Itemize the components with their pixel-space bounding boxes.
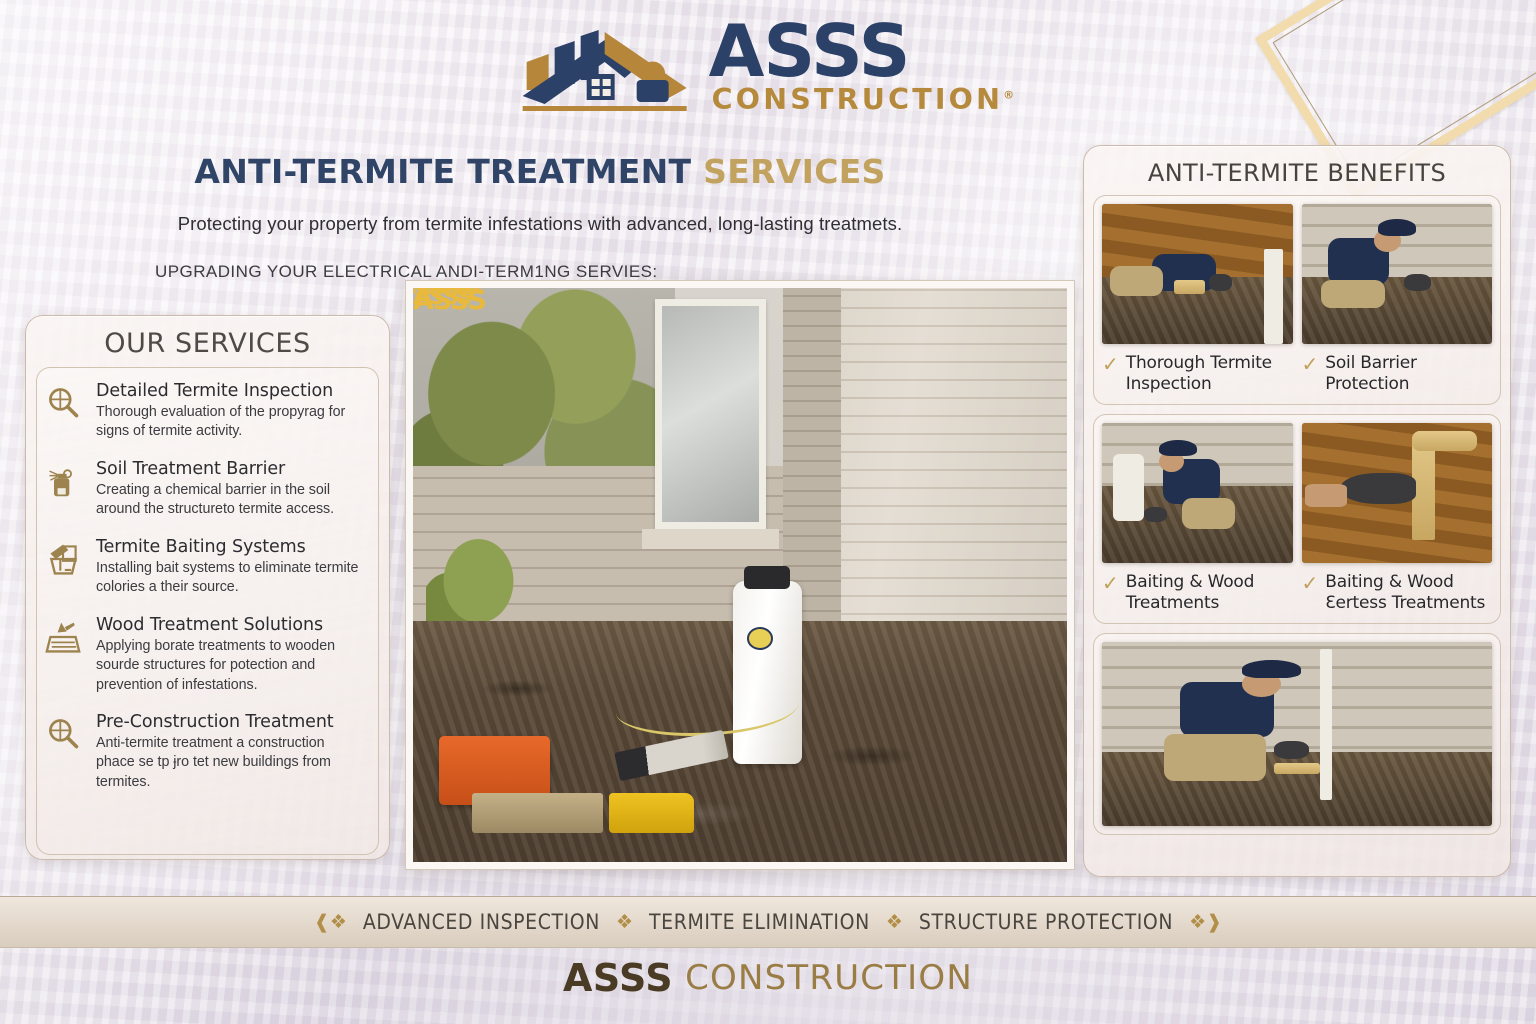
benefit-item[interactable]: ✓ Baiting & Wood Ɛertess Treatments [1302, 423, 1493, 615]
benefit-photo [1102, 204, 1293, 344]
footer-brand-light: CONSTRUCTION [685, 958, 973, 998]
service-description: Anti-termite treatment a construction ph… [96, 734, 366, 792]
service-name: Pre-Construction Treatment [96, 712, 366, 732]
logo-primary-text: ASSS [709, 19, 1018, 84]
service-description: Installing bait systems to eliminate ter… [96, 559, 366, 598]
benefit-photo [1302, 423, 1493, 563]
benefits-panel: ANTI-TERMITE BENEFITS ✓ Thorou [1083, 145, 1511, 877]
ribbon-item: TERMITE ELIMINATION [649, 910, 870, 934]
benefit-item[interactable]: ✓ Baiting & Wood Treatments [1102, 423, 1293, 615]
house-roof-logo-icon [519, 18, 695, 114]
page-subtitle: Protecting your property from termite in… [0, 213, 1080, 235]
benefit-label: Baiting & Wood Treatments [1126, 572, 1293, 615]
services-panel-title: OUR SERVICES [36, 328, 379, 359]
benefit-item[interactable]: ✓ Thorough Termite Inspection [1102, 204, 1293, 396]
benefit-label: Soil Barrier Protection [1325, 353, 1492, 396]
hero-tank-cap [744, 566, 790, 589]
benefits-row-3 [1093, 633, 1501, 835]
service-description: Applying borate treatments to wooden sou… [96, 637, 366, 695]
service-name: Wood Treatment Solutions [96, 615, 366, 635]
hero-photo-frame: ASSS CONSTRUCTROL ASSS CONSTRUCTROL [405, 280, 1075, 870]
footer-brand-bold: ASSS [563, 956, 673, 1000]
service-name: Termite Baiting Systems [96, 537, 366, 557]
service-item[interactable]: Pre-Construction Treatment Anti-termite … [45, 712, 366, 792]
spray-bottle-icon [45, 459, 87, 503]
benefit-item[interactable]: ✓ Soil Barrier Protection [1302, 204, 1493, 396]
benefit-photo[interactable] [1102, 642, 1492, 826]
ribbon-item: ADVANCED INSPECTION [363, 910, 600, 934]
ribbon-right-cap: ❖❱ [1189, 913, 1222, 932]
ribbon-separator-icon: ❖ [886, 913, 903, 932]
service-item[interactable]: Termite Baiting Systems Installing bait … [45, 537, 366, 598]
service-name: Detailed Termite Inspection [96, 381, 366, 401]
benefits-row-2: ✓ Baiting & Wood Treatments ✓ Baiting [1093, 414, 1501, 624]
ribbon-left-cap: ❰❖ [314, 913, 347, 932]
footer-logotype: ASSS CONSTRUCTION [0, 948, 1536, 1008]
page-kicker: UPGRADING YOUR ELECTRICAL ANDI-TERM1NG S… [0, 262, 1080, 282]
service-item[interactable]: Detailed Termite Inspection Thorough eva… [45, 381, 366, 442]
check-icon: ✓ [1102, 354, 1119, 396]
benefit-label: Thorough Termite Inspection [1126, 353, 1293, 396]
services-panel: OUR SERVICES Detailed Termite Inspection… [25, 315, 390, 860]
hero-sprayer-tank [733, 581, 802, 765]
service-item[interactable]: Soil Treatment Barrier Creating a chemic… [45, 459, 366, 520]
hero-photo: ASSS CONSTRUCTROL ASSS CONSTRUCTROL [413, 288, 1067, 862]
page-title-gold: SERVICES [703, 152, 885, 191]
hero-wood-plank [472, 793, 603, 833]
benefit-photo [1302, 204, 1493, 344]
page-title: ANTI-TERMITE TREATMENT SERVICES [0, 152, 1080, 191]
page-title-dark: ANTI-TERMITE TREATMENT [194, 152, 691, 191]
header-block: ANTI-TERMITE TREATMENT SERVICES Protecti… [0, 152, 1080, 282]
hero-power-drill [609, 793, 694, 833]
ribbon-item: STRUCTURE PROTECTION [919, 910, 1173, 934]
service-name: Soil Treatment Barrier [96, 459, 366, 479]
service-description: Thorough evaluation of the propyrag for … [96, 403, 366, 442]
logo-trademark: ® [1003, 89, 1017, 102]
bottom-ribbon: ❰❖ ADVANCED INSPECTION ❖ TERMITE ELIMINA… [0, 896, 1536, 948]
service-description: Creating a chemical barrier in the soil … [96, 481, 366, 520]
paint-brush-wood-icon [45, 615, 87, 659]
ribbon-separator-icon: ❖ [616, 913, 633, 932]
check-icon: ✓ [1102, 573, 1119, 615]
check-icon: ✓ [1302, 354, 1319, 396]
services-list: Detailed Termite Inspection Thorough eva… [36, 367, 379, 855]
benefits-panel-title: ANTI-TERMITE BENEFITS [1093, 159, 1501, 187]
benefit-label: Baiting & Wood Ɛertess Treatments [1325, 572, 1492, 615]
brand-logo: ASSS CONSTRUCTION® [519, 18, 1018, 114]
magnifier-crosshair-icon [45, 381, 87, 425]
check-icon: ✓ [1302, 573, 1319, 615]
bait-station-icon [45, 537, 87, 581]
magnifier-crosshair-icon [45, 712, 87, 756]
hero-tank-badge [747, 627, 773, 650]
service-item[interactable]: Wood Treatment Solutions Applying borate… [45, 615, 366, 695]
logo-secondary-text: CONSTRUCTION® [712, 87, 1018, 113]
benefit-photo [1102, 423, 1293, 563]
benefits-row-1: ✓ Thorough Termite Inspection [1093, 195, 1501, 405]
